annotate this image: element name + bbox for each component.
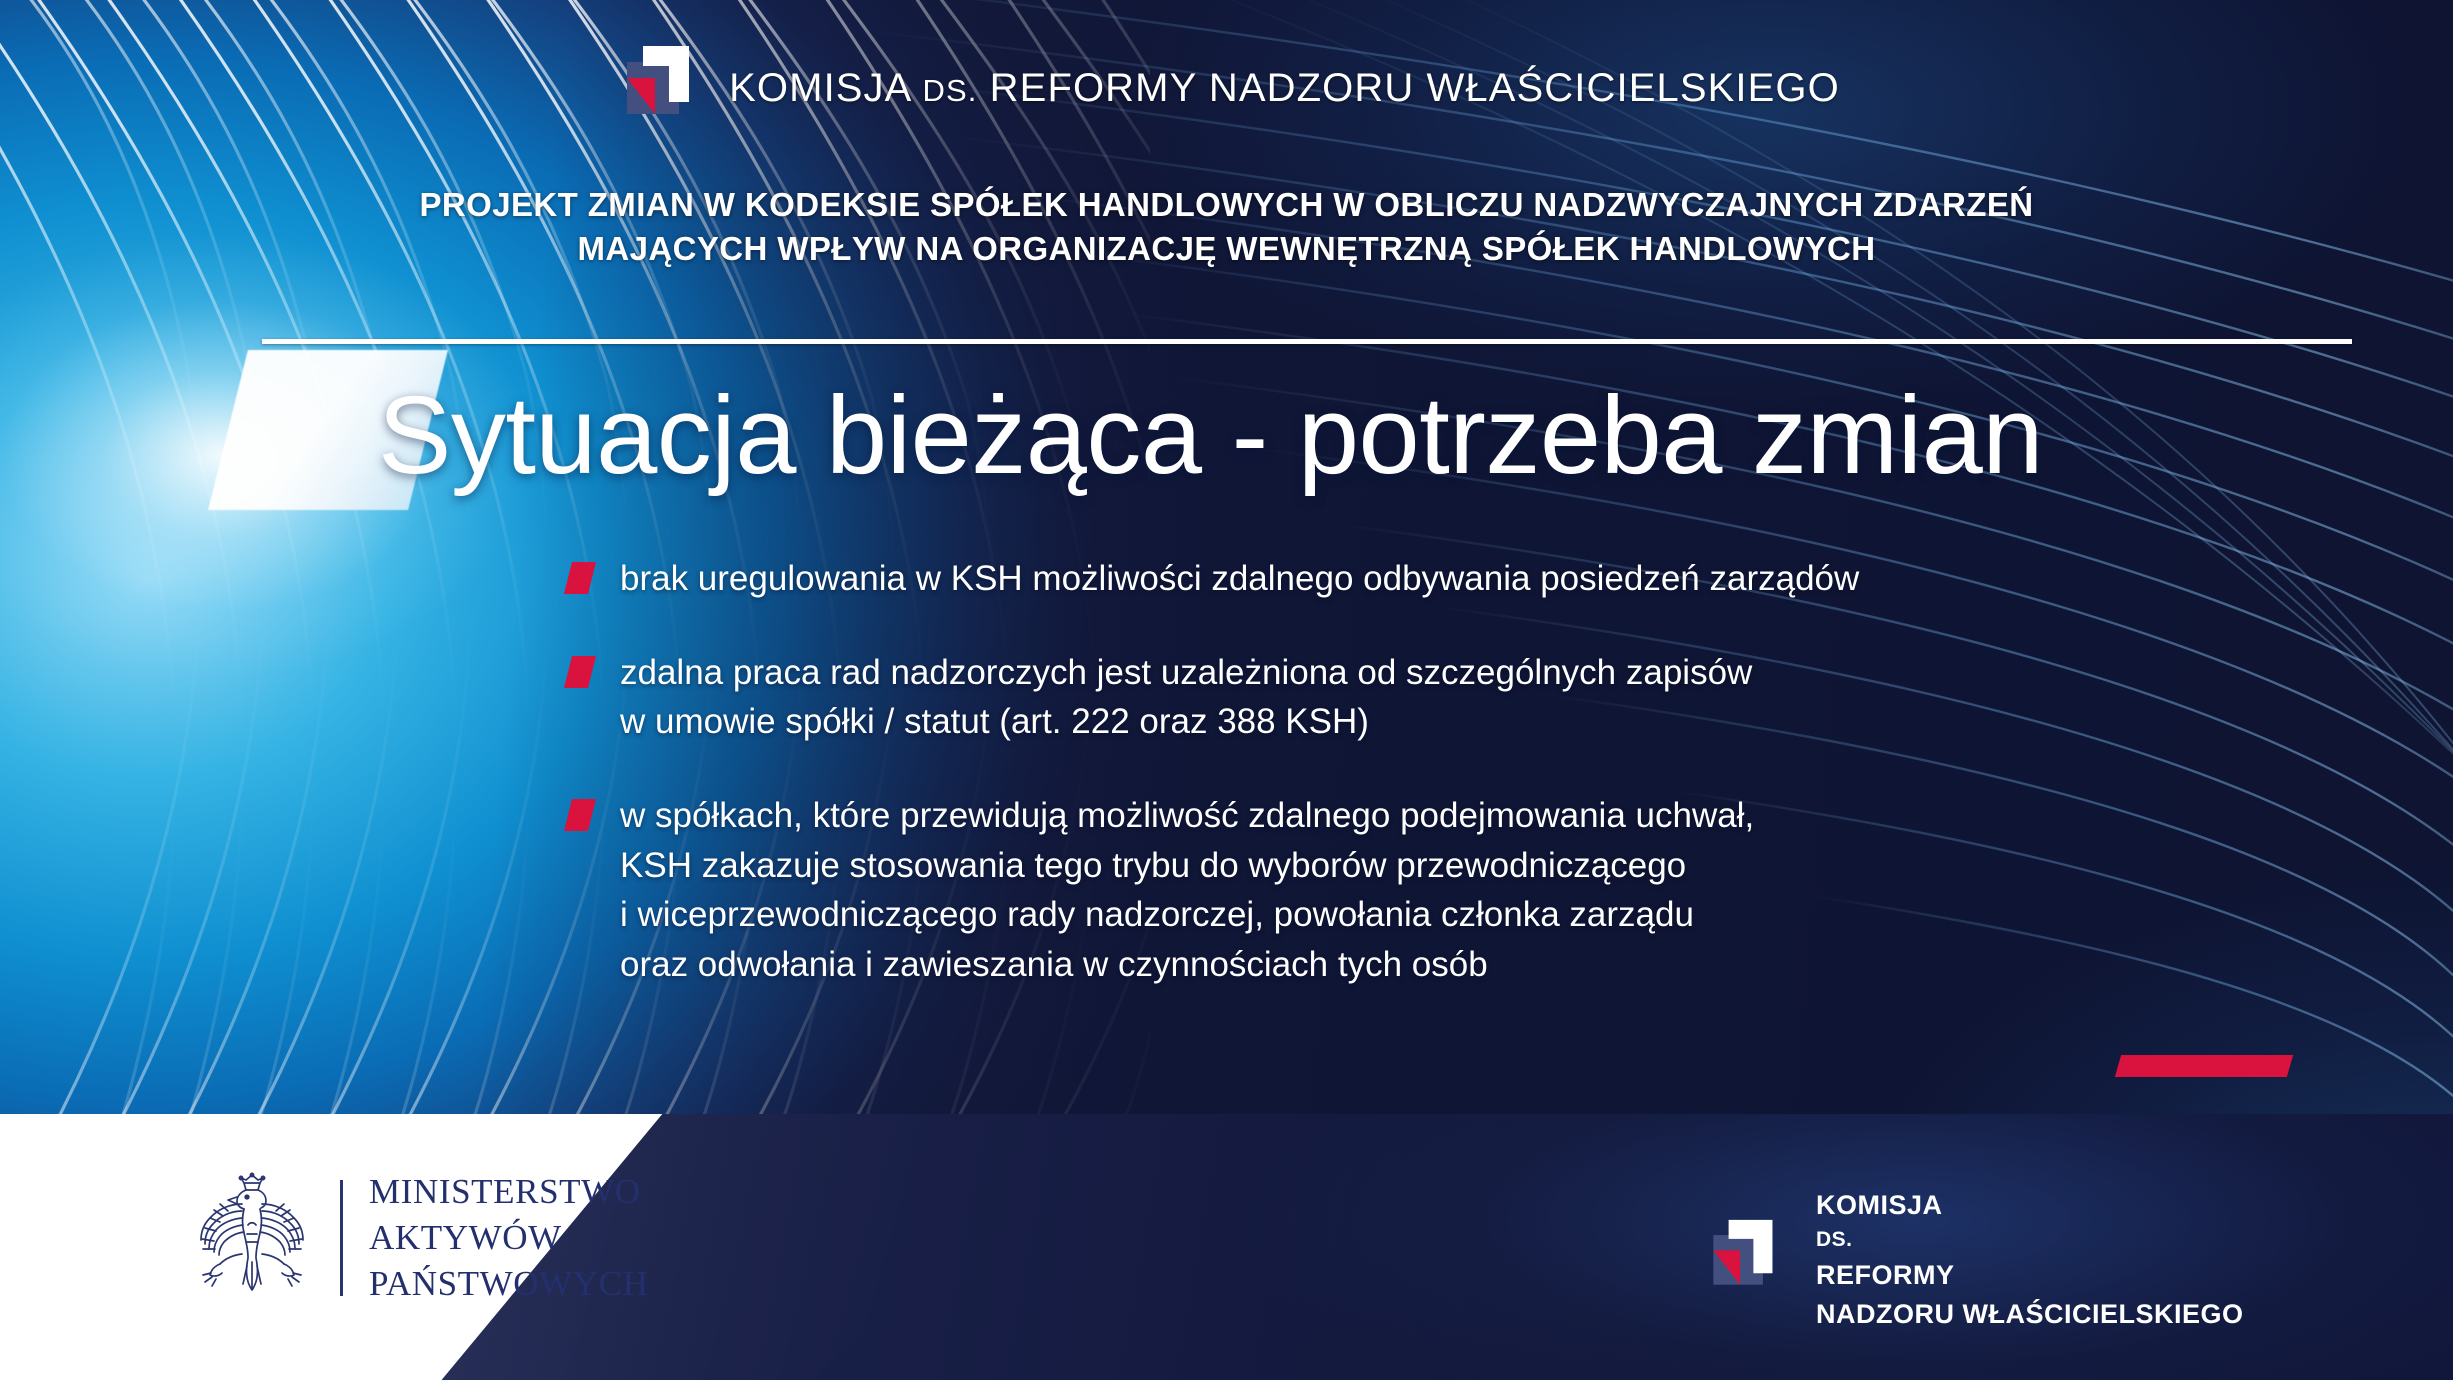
- ministry-line-3: PAŃSTWOWYCH: [369, 1261, 649, 1307]
- subtitle-line-2: MAJĄCYCH WPŁYW NA ORGANIZACJĘ WEWNĘTRZNĄ…: [150, 227, 2303, 271]
- komisja-line-1: KOMISJA: [1816, 1186, 2244, 1225]
- bullet-text: w spółkach, które przewidują możliwość z…: [620, 791, 1754, 990]
- bullet-text: zdalna praca rad nadzorczych jest uzależ…: [620, 648, 1752, 747]
- header-divider-rule: [262, 339, 2352, 344]
- ministry-logo-block: MINISTERSTWO AKTYWÓW PAŃSTWOWYCH: [190, 1169, 649, 1308]
- komisja-wordmark: KOMISJA DS. REFORMY NADZORU WŁAŚCICIELSK…: [1816, 1186, 2244, 1335]
- ministry-divider: [340, 1180, 343, 1296]
- ministry-line-2: AKTYWÓW: [369, 1215, 649, 1261]
- ministry-line-1: MINISTERSTWO: [369, 1169, 649, 1215]
- slide-root: KOMISJA DS. REFORMY NADZORU WŁAŚCICIELSK…: [0, 0, 2453, 1380]
- komisja-logo: [613, 42, 699, 135]
- bullet-list: brak uregulowania w KSH możliwości zdaln…: [568, 554, 2368, 990]
- komisja-logo: [1700, 1215, 1782, 1306]
- polish-eagle-emblem: [190, 1170, 314, 1307]
- header-title-komisja: KOMISJA: [729, 66, 910, 110]
- komisja-logo-block: KOMISJA DS. REFORMY NADZORU WŁAŚCICIELSK…: [1700, 1186, 2244, 1335]
- komisja-line-2-prefix: DS.: [1816, 1225, 2244, 1256]
- bullet-marker-icon: [564, 656, 596, 688]
- slide-subtitle: PROJEKT ZMIAN W KODEKSIE SPÓŁEK HANDLOWY…: [0, 183, 2453, 271]
- header-title-rest: REFORMY NADZORU WŁAŚCICIELSKIEGO: [990, 66, 1840, 110]
- red-accent-bar: [2115, 1055, 2293, 1077]
- list-item: w spółkach, które przewidują możliwość z…: [568, 791, 2368, 990]
- list-item: zdalna praca rad nadzorczych jest uzależ…: [568, 648, 2368, 747]
- komisja-line-2: DS. REFORMY: [1816, 1225, 2244, 1295]
- header-title-ds: DS.: [922, 73, 977, 108]
- subtitle-line-1: PROJEKT ZMIAN W KODEKSIE SPÓŁEK HANDLOWY…: [420, 186, 2034, 223]
- slide-header: KOMISJA DS. REFORMY NADZORU WŁAŚCICIELSK…: [0, 42, 2453, 135]
- list-item: brak uregulowania w KSH możliwości zdaln…: [568, 554, 2368, 604]
- ministry-wordmark: MINISTERSTWO AKTYWÓW PAŃSTWOWYCH: [369, 1169, 649, 1308]
- page-title: Sytuacja bieżąca - potrzeba zmian: [378, 372, 2043, 499]
- bullet-text: brak uregulowania w KSH możliwości zdaln…: [620, 554, 1859, 604]
- header-title: KOMISJA DS. REFORMY NADZORU WŁAŚCICIELSK…: [729, 66, 1840, 111]
- bullet-marker-icon: [564, 799, 596, 831]
- bullet-marker-icon: [564, 562, 596, 594]
- komisja-line-2-main: REFORMY: [1816, 1256, 2244, 1295]
- komisja-line-3: NADZORU WŁAŚCICIELSKIEGO: [1816, 1295, 2244, 1334]
- slide-footer: MINISTERSTWO AKTYWÓW PAŃSTWOWYCH KOMISJA…: [0, 1114, 2453, 1380]
